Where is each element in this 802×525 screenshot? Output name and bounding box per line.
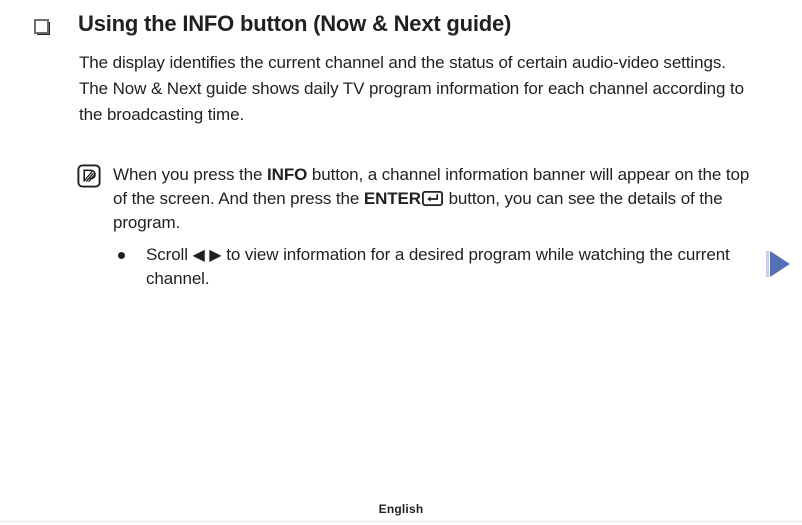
bullet-text-2: to view information for a desired progra…	[146, 245, 730, 288]
footer-divider	[0, 521, 802, 522]
footer-language: English	[0, 502, 802, 516]
square-bullet-icon	[34, 19, 50, 35]
note-block: When you press the INFO button, a channe…	[77, 163, 755, 235]
scroll-arrows-icon: ◀ ▶	[193, 247, 222, 264]
bullet-text: Scroll ◀ ▶ to view information for a des…	[146, 243, 758, 291]
enter-key-icon	[422, 189, 443, 204]
note-bold-info: INFO	[267, 165, 307, 184]
paragraph-2: The Now & Next guide shows daily TV prog…	[79, 76, 754, 128]
page-heading: Using the INFO button (Now & Next guide)	[34, 10, 762, 38]
body-text: The display identifies the current chann…	[79, 50, 754, 128]
note-text-1: When you press the	[113, 165, 267, 184]
manual-page: Using the INFO button (Now & Next guide)…	[0, 0, 802, 525]
page-title: Using the INFO button (Now & Next guide)	[78, 10, 511, 38]
bullet-dot-icon	[118, 252, 125, 259]
paragraph-1: The display identifies the current chann…	[79, 50, 754, 76]
note-text: When you press the INFO button, a channe…	[113, 163, 755, 235]
bullet-text-1: Scroll	[146, 245, 193, 264]
next-page-arrow-icon[interactable]	[766, 250, 794, 278]
note-pencil-icon	[77, 164, 101, 188]
note-bold-enter: ENTER	[364, 189, 421, 208]
bullet-item: Scroll ◀ ▶ to view information for a des…	[118, 243, 758, 291]
